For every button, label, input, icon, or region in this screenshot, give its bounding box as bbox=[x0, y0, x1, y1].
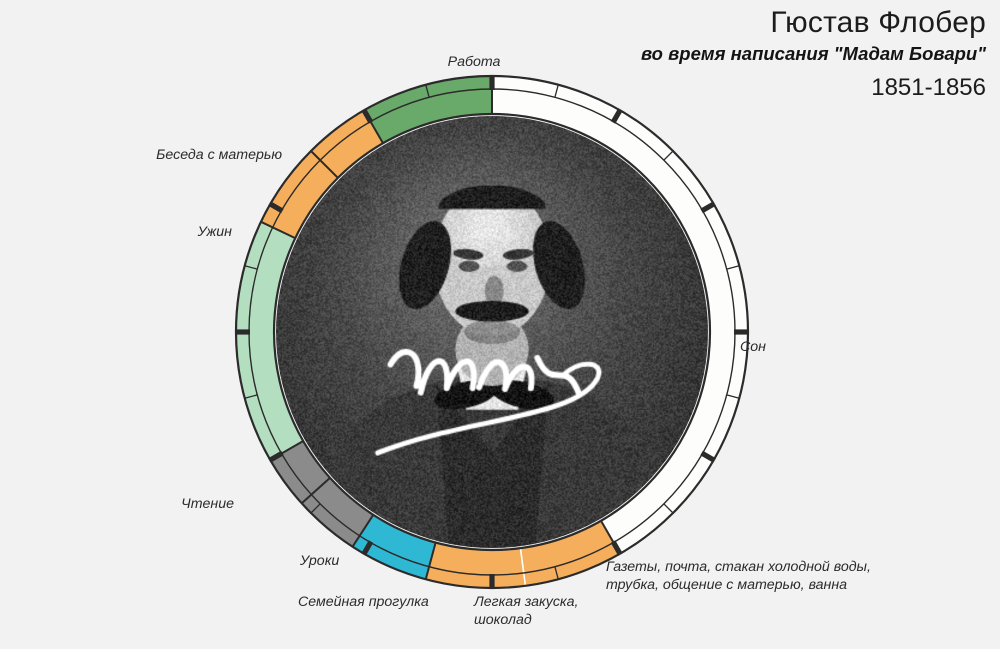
label-lessons: Уроки bbox=[300, 553, 420, 571]
page-subtitle: во время написания "Мадам Бовари" bbox=[641, 43, 986, 65]
label-work: Работа bbox=[394, 54, 554, 72]
label-snack: Легкая закуска, шоколад bbox=[474, 594, 624, 630]
portrait-photo bbox=[276, 116, 708, 548]
label-sleep: Сон bbox=[740, 339, 830, 357]
label-talk-mother: Беседа с матерью bbox=[60, 147, 282, 165]
label-reading: Чтение bbox=[98, 496, 234, 514]
label-family-walk: Семейная прогулка bbox=[298, 594, 478, 612]
page-title: Гюстав Флобер bbox=[641, 6, 986, 40]
label-dinner: Ужин bbox=[100, 224, 232, 242]
label-morning-routine: Газеты, почта, стакан холодной воды, тру… bbox=[606, 559, 916, 595]
infographic-canvas: Гюстав Флобер во время написания "Мадам … bbox=[0, 0, 1000, 649]
daily-routine-ring-chart bbox=[228, 68, 756, 596]
